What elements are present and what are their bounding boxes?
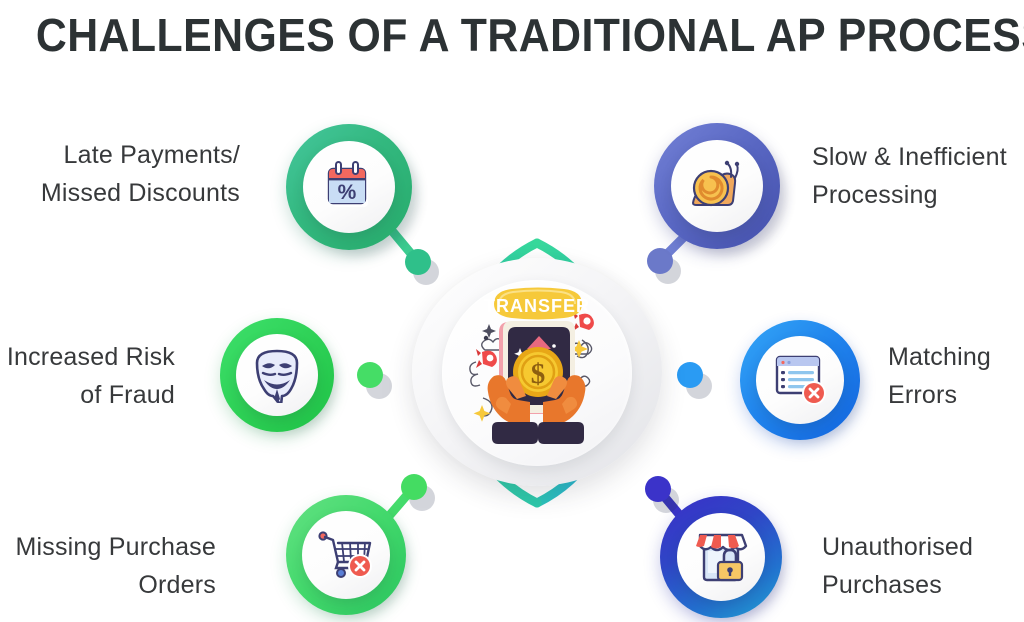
label-unauthorised-purchases: Unauthorised Purchases <box>822 528 1022 604</box>
label-increased-fraud: Increased Risk of Fraud <box>0 338 175 414</box>
infographic-canvas: CHALLENGES OF A TRADITIONAL AP PROCESS <box>0 0 1024 622</box>
node-late-payments[interactable]: % <box>286 124 412 250</box>
rocket-icon-2 <box>476 349 497 368</box>
label-late-payments: Late Payments/ Missed Discounts <box>10 136 240 212</box>
calendar-percent-icon: % <box>320 158 378 216</box>
snail-icon <box>687 159 747 213</box>
anonymous-mask-icon <box>251 347 303 403</box>
store-lock-icon <box>694 529 748 585</box>
node-unauthorised-purchases[interactable] <box>660 496 782 618</box>
label-matching-errors: Matching Errors <box>888 338 1023 414</box>
percent-symbol: % <box>338 181 357 204</box>
node-increased-fraud[interactable] <box>220 318 334 432</box>
document-error-icon <box>771 352 829 408</box>
transfer-banner-text: TRANSFER <box>484 296 590 316</box>
node-slow-processing[interactable] <box>654 123 780 249</box>
node-missing-purchase-orders[interactable] <box>286 495 406 615</box>
coin-symbol: $ <box>531 358 546 390</box>
label-slow-processing: Slow & Inefficient Processing <box>812 138 1024 214</box>
money-transfer-illustration: $ TRANSFER <box>442 280 632 466</box>
center-hub-inner: $ TRANSFER <box>442 280 632 466</box>
transfer-banner: TRANSFER <box>484 288 590 320</box>
node-matching-errors[interactable] <box>740 320 860 440</box>
shopping-cart-error-icon <box>317 529 375 581</box>
label-missing-purchase-orders: Missing Purchase Orders <box>0 528 216 604</box>
